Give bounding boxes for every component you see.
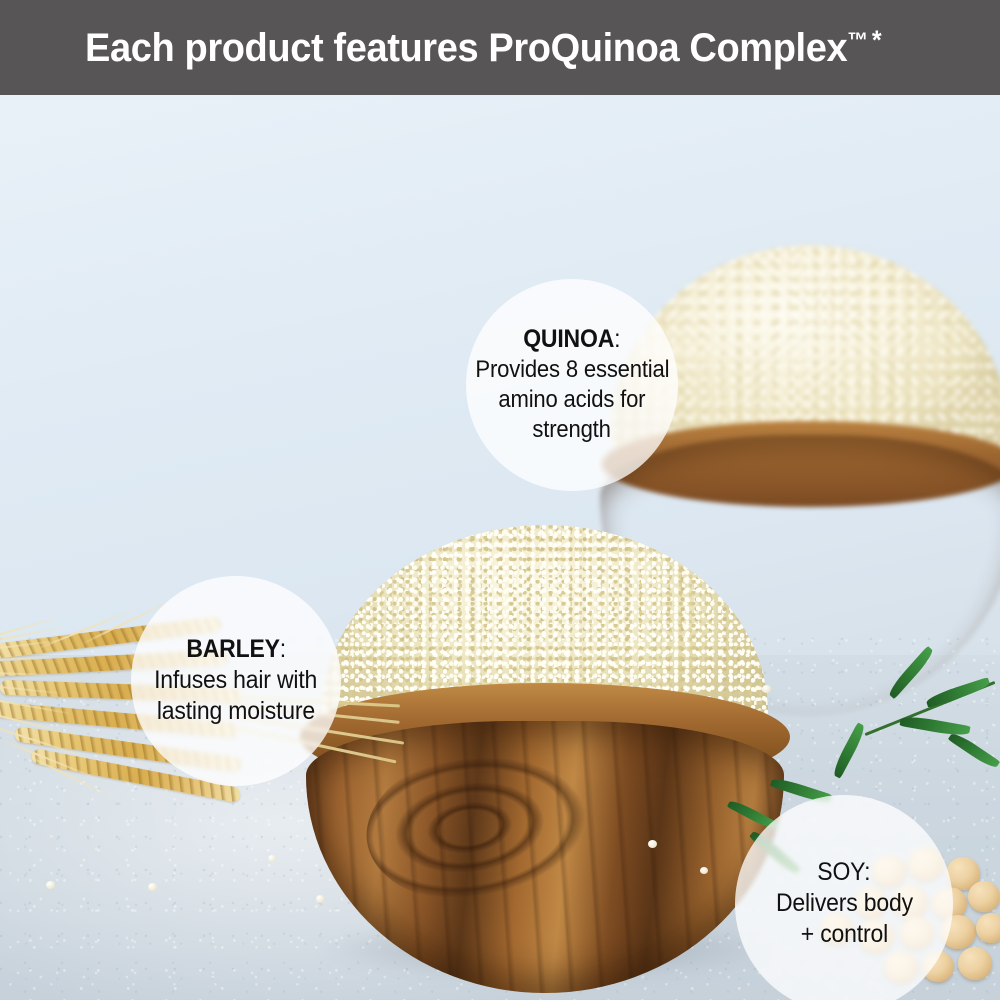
callout-quinoa-heading: QUINOA: xyxy=(523,324,620,355)
callout-soy-line-1: Delivers body xyxy=(776,888,913,920)
callout-barley-line-1: Infuses hair with xyxy=(154,665,317,697)
photo-scene: QUINOA: Provides 8 essential amino acids… xyxy=(0,95,1000,1000)
callout-quinoa[interactable]: QUINOA: Provides 8 essential amino acids… xyxy=(466,279,678,491)
callout-quinoa-colon: : xyxy=(614,325,620,353)
callout-quinoa-line-3: strength xyxy=(533,415,611,445)
header-bar: Each product features ProQuinoa Complex™… xyxy=(0,0,1000,95)
quinoa-grain xyxy=(316,895,324,903)
trademark-symbol: ™ xyxy=(847,27,868,52)
quinoa-grain xyxy=(148,883,157,891)
header-asterisk: * xyxy=(872,25,881,55)
callout-barley-line-2: lasting moisture xyxy=(157,696,315,728)
product-ingredient-infographic: Each product features ProQuinoa Complex™… xyxy=(0,0,1000,1000)
soybean xyxy=(958,947,992,980)
callout-barley-heading: BARLEY: xyxy=(186,634,286,665)
header-title-main: Each product features ProQuinoa Complex xyxy=(85,26,847,70)
header-title: Each product features ProQuinoa Complex™… xyxy=(85,27,881,68)
soybean xyxy=(968,881,1000,912)
callout-barley-colon: : xyxy=(280,635,286,663)
quinoa-grain xyxy=(46,881,55,889)
quinoa-grain xyxy=(700,867,708,874)
callout-soy-line-2: + control xyxy=(800,919,887,951)
quinoa-grain xyxy=(268,855,276,862)
callout-barley[interactable]: BARLEY: Infuses hair with lasting moistu… xyxy=(131,576,341,786)
quinoa-grain xyxy=(762,685,771,693)
callout-quinoa-line-1: Provides 8 essential xyxy=(475,355,669,385)
soybean xyxy=(976,913,1000,943)
quinoa-grain xyxy=(648,840,657,848)
callout-barley-heading-text: BARLEY xyxy=(186,635,279,663)
callout-quinoa-heading-text: QUINOA xyxy=(523,325,614,353)
callout-soy-colon: : xyxy=(864,858,870,886)
callout-soy[interactable]: SOY: Delivers body + control xyxy=(735,795,953,1000)
callout-soy-heading-text: SOY xyxy=(818,858,865,886)
callout-soy-heading: SOY: xyxy=(818,857,871,888)
callout-quinoa-line-2: amino acids for xyxy=(499,385,646,415)
